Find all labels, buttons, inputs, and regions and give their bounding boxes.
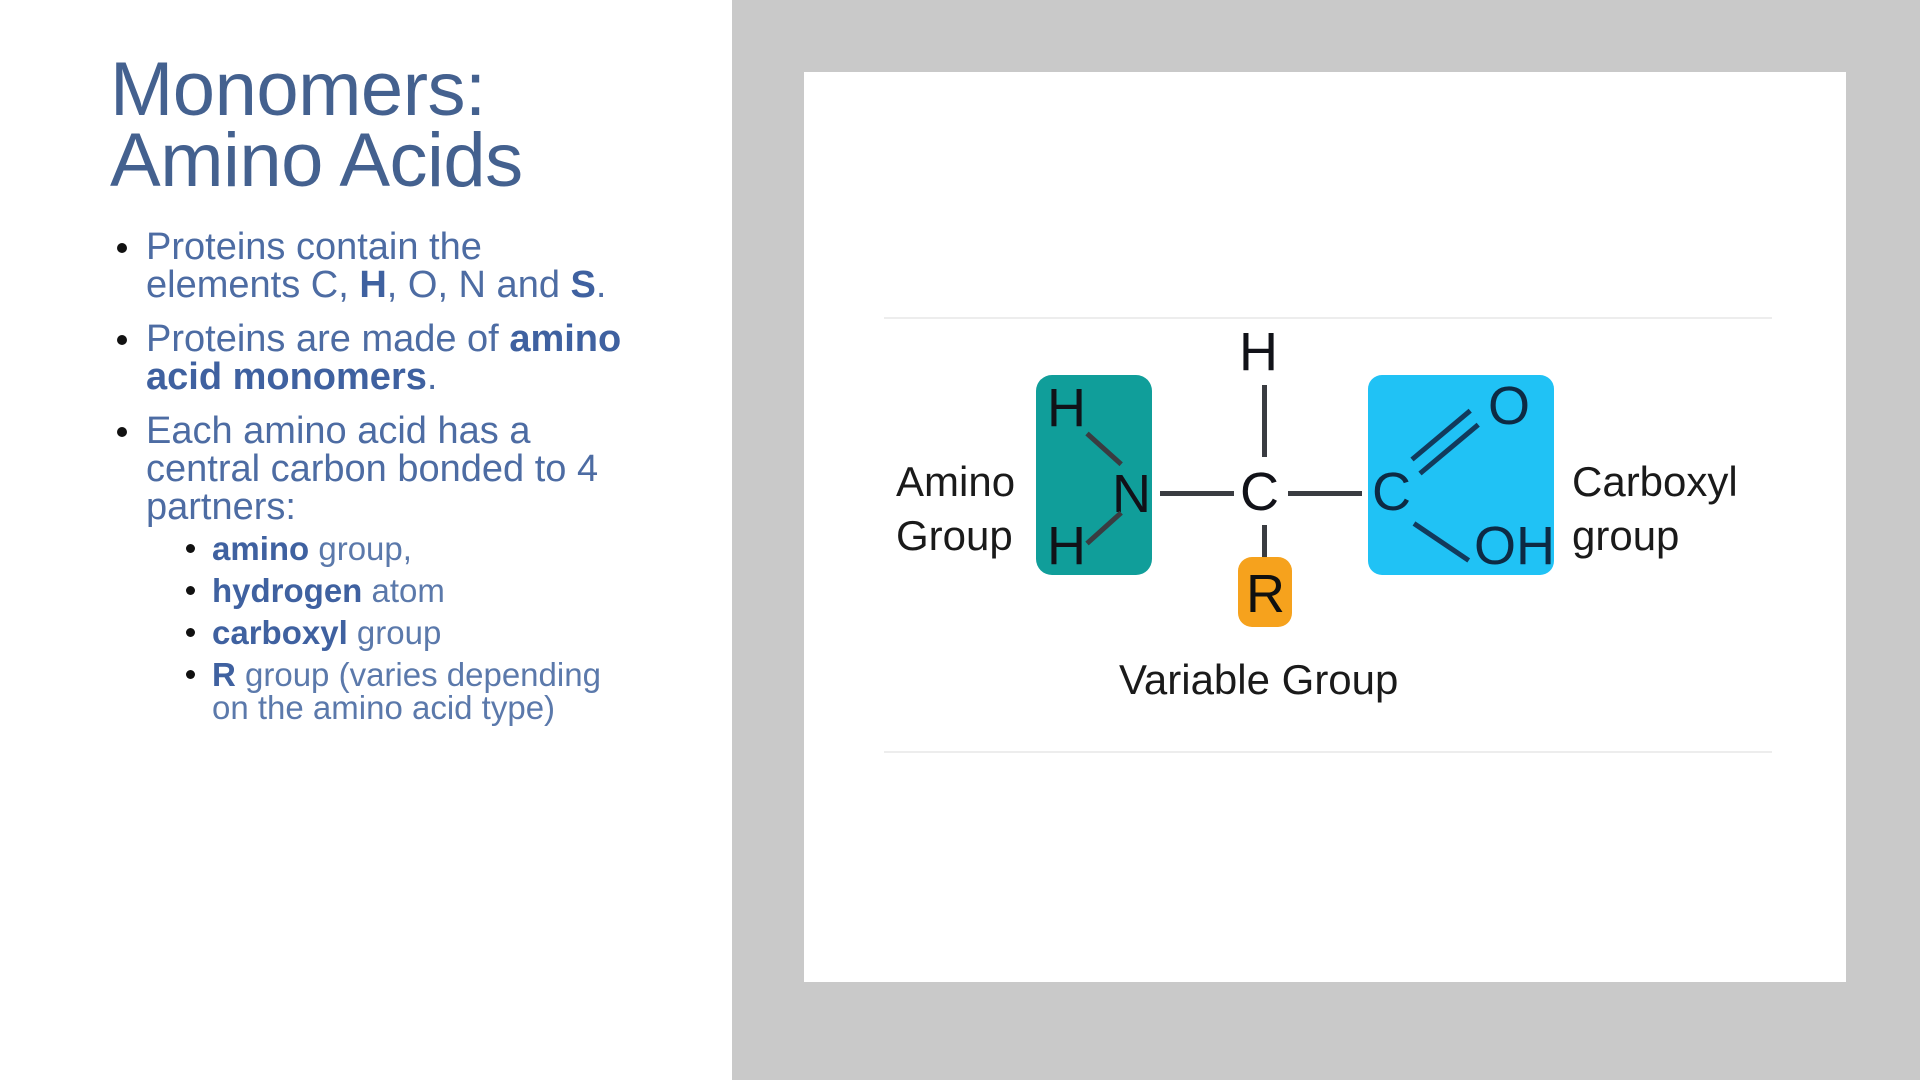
bullet-text: Proteins are made of amino acid monomers… — [146, 318, 621, 398]
amino-group-label-line1: Amino — [896, 461, 1015, 503]
body-bullet-list: Proteins contain the elements C, H, O, N… — [108, 228, 638, 740]
atom-central-h: H — [1239, 325, 1278, 379]
left-text-panel: Monomers: Amino Acids Proteins contain t… — [0, 0, 732, 1080]
sub-bullet-list: amino group, hydrogen atom carboxyl grou… — [146, 532, 638, 724]
atom-carboxyl-oxygen: O — [1488, 379, 1530, 433]
bullet-central-carbon: Each amino acid has a central carbon bon… — [108, 412, 638, 724]
bullet-dot-icon — [117, 335, 127, 345]
atom-amino-h-bottom: H — [1047, 519, 1086, 573]
slide-canvas: Monomers: Amino Acids Proteins contain t… — [0, 0, 1920, 1080]
bullet-dot-icon — [117, 427, 127, 437]
bond-n-c — [1160, 491, 1234, 496]
sub-bullet-carboxyl-group: carboxyl group — [146, 616, 638, 649]
variable-group-label: Variable Group — [1119, 659, 1398, 701]
sub-bullet-text: R group (varies depending on the amino a… — [212, 656, 601, 726]
page-title: Monomers: Amino Acids — [110, 55, 710, 196]
bond-c-c — [1288, 491, 1362, 496]
bullet-proteins-elements: Proteins contain the elements C, H, O, N… — [108, 228, 638, 304]
sub-bullet-text: hydrogen atom — [212, 572, 445, 609]
atom-central-carbon: C — [1240, 465, 1279, 519]
bullet-dot-icon — [117, 243, 127, 253]
sub-bullet-amino-group: amino group, — [146, 532, 638, 565]
carboxyl-group-label-line1: Carboxyl — [1572, 461, 1738, 503]
atom-carboxyl-carbon: C — [1372, 465, 1411, 519]
bullet-text: Proteins contain the elements C, H, O, N… — [146, 226, 606, 306]
sub-bullet-text: carboxyl group — [212, 614, 441, 651]
bullet-dot-icon — [186, 670, 195, 679]
carboxyl-group-label-line2: group — [1572, 515, 1679, 557]
diagram-card: Amino Group H N H H — [804, 72, 1846, 982]
bullet-dot-icon — [186, 586, 195, 595]
sub-bullet-hydrogen-atom: hydrogen atom — [146, 574, 638, 607]
sub-bullet-text: amino group, — [212, 530, 412, 567]
atom-amino-h-top: H — [1047, 381, 1086, 435]
bullet-text: Each amino acid has a central carbon bon… — [146, 410, 598, 528]
sub-bullet-r-group: R group (varies depending on the amino a… — [146, 658, 638, 724]
amino-group-label-line2: Group — [896, 515, 1013, 557]
atom-r-group: R — [1246, 567, 1285, 621]
amino-acid-diagram: Amino Group H N H H — [884, 317, 1772, 753]
bullet-dot-icon — [186, 544, 195, 553]
bond-c-h-top — [1262, 385, 1267, 457]
right-image-panel: Amino Group H N H H — [732, 0, 1920, 1080]
bullet-dot-icon — [186, 628, 195, 637]
bullet-proteins-monomers: Proteins are made of amino acid monomers… — [108, 320, 638, 396]
atom-carboxyl-hydroxyl: OH — [1474, 519, 1555, 573]
